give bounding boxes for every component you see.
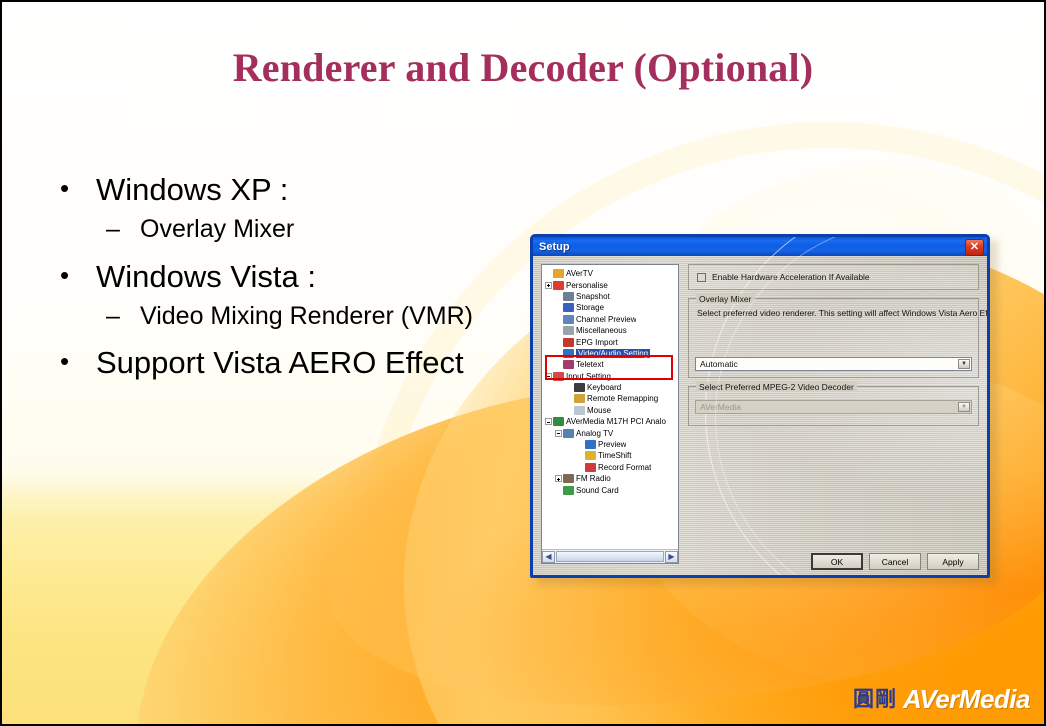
dialog-button-row: OK Cancel Apply (811, 553, 979, 570)
tree-item-sound-card[interactable]: Sound Card (544, 484, 678, 495)
tree-item-icon (585, 463, 596, 472)
tree-item-icon (563, 292, 574, 301)
settings-tree[interactable]: AVerTVPersonaliseSnapshotStorageChannel … (541, 264, 679, 564)
video-renderer-combobox[interactable]: Automatic ▼ (695, 357, 972, 371)
dialog-title-bar[interactable]: Setup ✕ (533, 237, 987, 256)
mpeg-decoder-combobox[interactable]: AVerMedia ▼ (695, 400, 972, 414)
tree-item-icon (563, 349, 574, 358)
bullet-text: Video Mixing Renderer (VMR) (140, 302, 473, 332)
tree-item-label: Record Format (598, 463, 651, 472)
tree-item-icon (563, 360, 574, 369)
tree-item-fm-radio[interactable]: FM Radio (544, 473, 678, 484)
tree-item-epg-import[interactable]: EPG Import (544, 336, 678, 347)
tree-item-mouse[interactable]: Mouse (544, 405, 678, 416)
tree-item-label: Remote Remapping (587, 394, 658, 403)
overlay-mixer-legend: Overlay Mixer (696, 294, 754, 304)
tree-item-timeshift[interactable]: TimeShift (544, 450, 678, 461)
cancel-button[interactable]: Cancel (869, 553, 921, 570)
expand-plus-icon[interactable] (554, 475, 563, 482)
bullet-list: • Windows XP : – Overlay Mixer • Windows… (60, 172, 510, 380)
scrollbar-thumb[interactable] (556, 551, 664, 562)
collapse-minus-icon[interactable] (554, 430, 563, 437)
ok-button[interactable]: OK (811, 553, 863, 570)
tree-item-label: Snapshot (576, 292, 610, 301)
tree-item-icon (574, 406, 585, 415)
logo-wordmark: AVerMedia (903, 686, 1030, 712)
tree-item-icon (585, 440, 596, 449)
tree-item-icon (563, 303, 574, 312)
bullet-text: Overlay Mixer (140, 215, 294, 245)
tree-item-personalise[interactable]: Personalise (544, 279, 678, 290)
tree-item-input-setting[interactable]: Input Setting (544, 371, 678, 382)
tree-item-record-format[interactable]: Record Format (544, 462, 678, 473)
tree-item-icon (574, 394, 585, 403)
scroll-right-arrow-icon[interactable]: ▶ (665, 551, 678, 563)
tree-item-label: Teletext (576, 360, 604, 369)
tree-scroll-area: AVerTVPersonaliseSnapshotStorageChannel … (542, 265, 678, 549)
tree-item-remote-remapping[interactable]: Remote Remapping (544, 393, 678, 404)
tree-item-storage[interactable]: Storage (544, 302, 678, 313)
tree-item-snapshot[interactable]: Snapshot (544, 291, 678, 302)
tree-item-label: FM Radio (576, 474, 611, 483)
tree-item-channel-preview[interactable]: Channel Preview (544, 314, 678, 325)
tree-item-label: Storage (576, 303, 604, 312)
bullet-marker: • (60, 172, 96, 205)
hardware-acceleration-label: Enable Hardware Acceleration If Availabl… (712, 272, 870, 282)
chevron-down-icon[interactable]: ▼ (958, 402, 970, 412)
tree-item-icon (563, 315, 574, 324)
hardware-acceleration-checkbox[interactable] (697, 273, 706, 282)
tree-item-icon (563, 474, 574, 483)
expand-plus-icon[interactable] (544, 282, 553, 289)
mpeg-decoder-value: AVerMedia (700, 402, 741, 412)
tree-item-icon (553, 372, 564, 381)
bullet-text: Support Vista AERO Effect (96, 345, 464, 380)
bullet-marker: • (60, 259, 96, 292)
collapse-minus-icon[interactable] (544, 418, 553, 425)
hardware-acceleration-row[interactable]: Enable Hardware Acceleration If Availabl… (688, 264, 979, 290)
tree-item-label: Personalise (566, 281, 608, 290)
tree-item-label: Analog TV (576, 429, 613, 438)
tree-item-icon (553, 417, 564, 426)
bullet-text: Windows XP : (96, 172, 288, 207)
tree-item-label: Channel Preview (576, 315, 636, 324)
slide: Renderer and Decoder (Optional) • Window… (0, 0, 1046, 726)
tree-item-label: Sound Card (576, 486, 619, 495)
tree-item-icon (563, 429, 574, 438)
close-icon[interactable]: ✕ (965, 239, 984, 256)
chevron-down-icon[interactable]: ▼ (958, 359, 970, 369)
tree-item-label: AVerTV (566, 269, 593, 278)
page-title: Renderer and Decoder (Optional) (2, 44, 1044, 91)
avermedia-logo: 圓剛 AVerMedia (853, 686, 1030, 712)
collapse-minus-icon[interactable] (544, 373, 553, 380)
dialog-title: Setup (539, 241, 570, 253)
tree-item-teletext[interactable]: Teletext (544, 359, 678, 370)
tree-item-label: TimeShift (598, 451, 632, 460)
tree-item-icon (563, 338, 574, 347)
settings-panel: Enable Hardware Acceleration If Availabl… (688, 264, 979, 426)
tree-item-label: EPG Import (576, 338, 618, 347)
tree-item-preview[interactable]: Preview (544, 439, 678, 450)
setup-dialog: Setup ✕ AVerTVPersonaliseSnapshotStorage… (530, 234, 990, 578)
video-renderer-value: Automatic (700, 359, 738, 369)
tree-item-icon (553, 269, 564, 278)
mpeg-decoder-legend: Select Preferred MPEG-2 Video Decoder (696, 382, 857, 392)
bullet-item-support-vista-aero: • Support Vista AERO Effect (60, 345, 510, 380)
tree-item-label: Keyboard (587, 383, 621, 392)
apply-button[interactable]: Apply (927, 553, 979, 570)
bullet-item-video-mixing-renderer: – Video Mixing Renderer (VMR) (60, 302, 510, 332)
bullet-item-windows-vista: • Windows Vista : (60, 259, 510, 294)
tree-item-icon (553, 281, 564, 290)
tree-item-label: AVerMedia M17H PCI Analo (566, 417, 666, 426)
tree-item-avertv[interactable]: AVerTV (544, 268, 678, 279)
overlay-mixer-group: Overlay Mixer Select preferred video ren… (688, 298, 979, 378)
mpeg-decoder-group: Select Preferred MPEG-2 Video Decoder AV… (688, 386, 979, 426)
tree-item-label: Preview (598, 440, 626, 449)
tree-item-avermedia-m17h-pci-analo[interactable]: AVerMedia M17H PCI Analo (544, 416, 678, 427)
bullet-text: Windows Vista : (96, 259, 316, 294)
tree-item-label: Input Setting (566, 372, 611, 381)
tree-item-label: Miscellaneous (576, 326, 627, 335)
tree-item-icon (563, 326, 574, 335)
bullet-item-windows-xp: • Windows XP : (60, 172, 510, 207)
logo-cjk-text: 圓剛 (853, 689, 897, 710)
overlay-mixer-description: Select preferred video renderer. This se… (697, 308, 970, 318)
tree-item-label: Mouse (587, 406, 611, 415)
tree-item-icon (574, 383, 585, 392)
tree-item-video-audio-setting[interactable]: Video/Audio Setting (544, 348, 678, 359)
bullet-marker: • (60, 345, 96, 378)
tree-horizontal-scrollbar[interactable]: ◀ ▶ (542, 549, 678, 563)
tree-item-icon (563, 486, 574, 495)
dialog-body: AVerTVPersonaliseSnapshotStorageChannel … (533, 256, 987, 578)
bullet-marker: – (106, 215, 140, 245)
scroll-left-arrow-icon[interactable]: ◀ (542, 551, 555, 563)
bullet-marker: – (106, 302, 140, 332)
tree-item-analog-tv[interactable]: Analog TV (544, 427, 678, 438)
tree-item-miscellaneous[interactable]: Miscellaneous (544, 325, 678, 336)
tree-item-icon (585, 451, 596, 460)
bullet-item-overlay-mixer: – Overlay Mixer (60, 215, 510, 245)
tree-item-label: Video/Audio Setting (576, 349, 650, 358)
tree-item-keyboard[interactable]: Keyboard (544, 382, 678, 393)
